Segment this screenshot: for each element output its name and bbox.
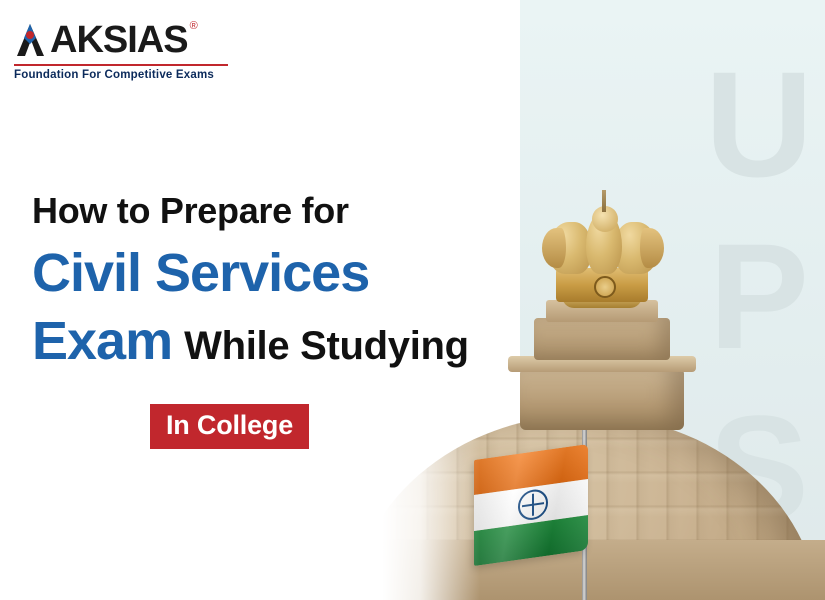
aks-monogram-icon (14, 22, 48, 58)
headline-line-2: Civil Services (32, 240, 552, 306)
brand-name-secondary: IAS (127, 21, 187, 59)
headline-line-3: ExamWhile Studying (32, 308, 552, 388)
headline-block: How to Prepare for Civil Services ExamWh… (32, 188, 552, 449)
headline-line-3-blue: Exam (32, 311, 172, 371)
pedestal-middle (534, 318, 670, 360)
brand-tagline: Foundation For Competitive Exams (14, 69, 274, 81)
emblem-spire (602, 190, 606, 212)
registered-trademark-icon: ® (190, 20, 198, 32)
emblem-lion-mane-right (640, 228, 664, 268)
ashoka-chakra-icon (594, 276, 616, 298)
brand-divider (14, 64, 228, 66)
headline-badge: In College (150, 404, 309, 449)
brand-logo[interactable]: AKS IAS ® Foundation For Competitive Exa… (14, 18, 274, 81)
flag-shading (474, 444, 588, 566)
brand-logo-row: AKS IAS ® (14, 18, 274, 62)
headline-line-3-black: While Studying (184, 324, 469, 368)
brand-name-primary: AKS (50, 21, 127, 59)
indian-flag-icon (474, 444, 588, 566)
headline-line-1: How to Prepare for (32, 188, 552, 234)
poster-canvas: UPSC (0, 0, 825, 600)
